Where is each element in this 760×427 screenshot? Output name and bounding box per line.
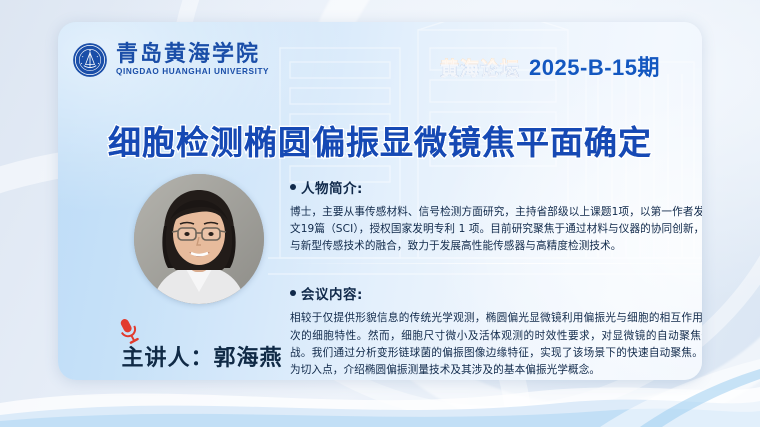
section-spacer: [290, 264, 702, 283]
university-seal-icon: [72, 42, 108, 78]
forum-tag-text: 黄海论坛: [440, 54, 520, 81]
forum-issue-number: 2025-B-15期: [529, 50, 660, 82]
speaker-name: 主讲人：郭海燕: [106, 340, 298, 372]
section-heading-bio: 人物简介:: [290, 177, 702, 197]
section-body-bio: 博士，主要从事传感材料、信号检测方面研究，主持省部级以上课题1项，以第一作者发表…: [290, 204, 702, 255]
university-name-cn: 青岛黄海学院: [116, 43, 269, 65]
poster-card: 青岛黄海学院 QINGDAO HUANGHAI UNIVERSITY 黄海论坛 …: [58, 22, 702, 380]
university-name-en: QINGDAO HUANGHAI UNIVERSITY: [116, 68, 269, 76]
bullet-dot-icon: [290, 184, 296, 190]
section-heading-content-label: 会议内容:: [301, 283, 363, 303]
section-heading-bio-label: 人物简介:: [301, 177, 363, 197]
section-body-content: 相较于仅提供形貌信息的传统光学观测，椭圆偏光显微镜利用偏振光与细胞的相互作用，能…: [290, 310, 702, 379]
poster-title-outline: 细胞检测椭圆偏振显微镜焦平面确定: [58, 116, 702, 164]
bullet-dot-icon: [290, 290, 296, 296]
speaker-portrait-illustration: [134, 174, 264, 304]
poster-root: 青岛黄海学院 QINGDAO HUANGHAI UNIVERSITY 黄海论坛 …: [0, 0, 760, 427]
content-column: 人物简介: 博士，主要从事传感材料、信号检测方面研究，主持省部级以上课题1项，以…: [290, 177, 702, 379]
university-logo: 青岛黄海学院 QINGDAO HUANGHAI UNIVERSITY: [72, 42, 269, 78]
section-heading-content: 会议内容:: [290, 283, 702, 303]
avatar: [134, 174, 264, 304]
forum-label: 黄海论坛 2025-B-15期: [440, 50, 660, 82]
